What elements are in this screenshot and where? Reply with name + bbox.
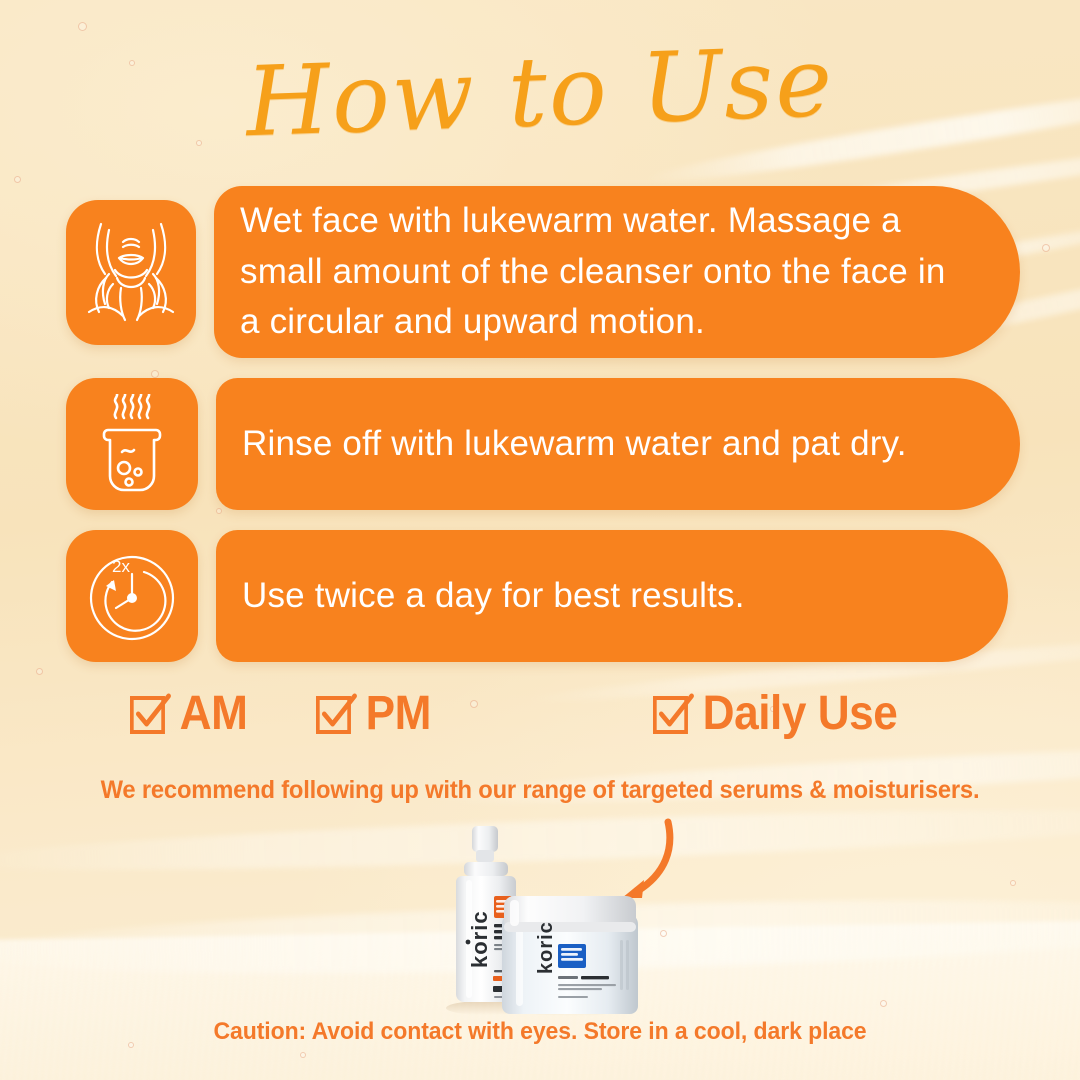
moisturiser-jar: koric: [502, 896, 638, 1014]
step-text: Wet face with lukewarm water. Massage a …: [214, 186, 1020, 358]
face-wash-icon: [66, 200, 196, 345]
checkbox-checked-icon[interactable]: [653, 694, 690, 734]
caution-text: Caution: Avoid contact with eyes. Store …: [22, 1018, 1059, 1046]
warm-water-beaker-icon: [66, 378, 198, 510]
checkbox-checked-icon[interactable]: [316, 694, 353, 734]
step-row: Wet face with lukewarm water. Massage a …: [0, 186, 1080, 358]
usage-check-daily-use[interactable]: Daily Use: [653, 686, 897, 741]
checkbox-checked-icon[interactable]: [130, 694, 167, 734]
background-speck: [880, 1000, 887, 1007]
infographic-canvas: How to Use: [0, 0, 1080, 1080]
usage-check-am[interactable]: AM: [130, 686, 247, 741]
step-text: Rinse off with lukewarm water and pat dr…: [216, 378, 1020, 510]
twice-daily-clock-icon: 2x: [66, 530, 198, 662]
svg-text:koric: koric: [535, 921, 557, 974]
step-text: Use twice a day for best results.: [216, 530, 1008, 662]
background-speck: [78, 22, 87, 31]
steps-list: Wet face with lukewarm water. Massage a …: [0, 186, 1080, 682]
product-group: koric: [430, 818, 660, 1018]
svg-text:koric: koric: [467, 910, 492, 968]
step-row: Rinse off with lukewarm water and pat dr…: [0, 378, 1080, 510]
usage-check-label: Daily Use: [702, 686, 897, 741]
usage-check-row: AM PM Daily Use: [0, 686, 1080, 741]
step-row: 2x Use twice a day for best results.: [0, 530, 1080, 662]
svg-text:2x: 2x: [112, 557, 130, 576]
background-speck: [300, 1052, 306, 1058]
usage-check-label: PM: [365, 686, 430, 741]
usage-check-pm[interactable]: PM: [316, 686, 431, 741]
background-speck: [660, 930, 667, 937]
background-speck: [1010, 880, 1016, 886]
recommendation-text: We recommend following up with our range…: [27, 776, 1053, 805]
usage-check-label: AM: [180, 686, 248, 741]
background-speck: [14, 176, 21, 183]
